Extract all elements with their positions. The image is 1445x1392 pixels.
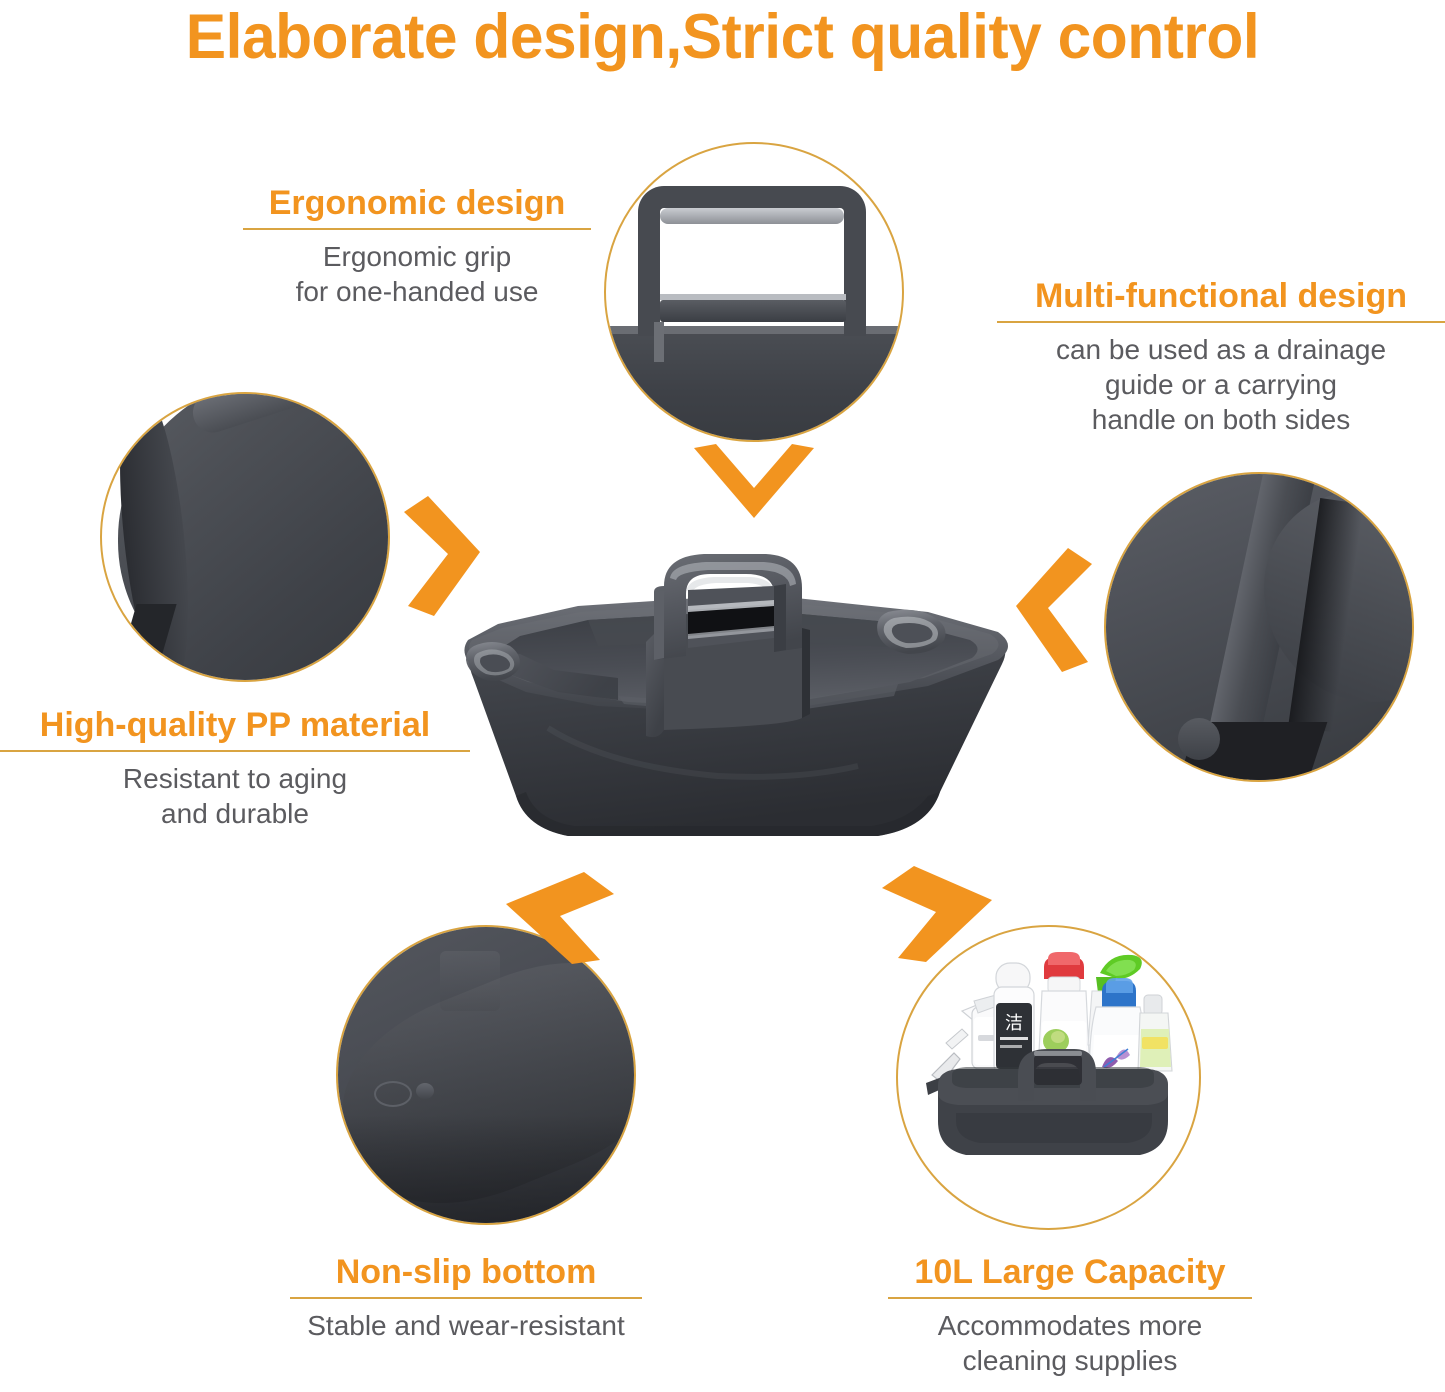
drainage-closeup-image — [1104, 472, 1414, 782]
arrow-capacity-up — [876, 858, 1004, 966]
supplies-closeup-image: 洁 — [896, 925, 1201, 1230]
callout-body-line-1: Resistant to aging — [0, 761, 470, 796]
bottom-shadow — [336, 1115, 636, 1225]
pp-material-image — [100, 392, 390, 682]
callout-body-line-2: and durable — [0, 796, 470, 831]
bottle-yellow-liquid — [1138, 995, 1172, 1071]
callout-rule — [888, 1297, 1252, 1299]
handle-closeup-image — [604, 142, 904, 442]
detail-circle-pp-material — [100, 392, 390, 682]
bottom-foot-ring — [374, 1081, 412, 1107]
callout-heading: Ergonomic design — [243, 183, 591, 223]
callout-heading: Non-slip bottom — [290, 1252, 642, 1292]
callout-multi-functional-design: Multi-functional design can be used as a… — [997, 276, 1445, 437]
callout-non-slip-bottom: Non-slip bottom Stable and wear-resistan… — [290, 1252, 642, 1343]
drain-rounded-corner — [1178, 718, 1220, 760]
bottom-grip-nub — [416, 1083, 434, 1099]
page-title: Elaborate design,Strict quality control — [29, 2, 1416, 72]
grip-bar — [660, 300, 846, 322]
detail-circle-cleaning-supplies: 洁 — [896, 925, 1201, 1230]
callout-heading: 10L Large Capacity — [888, 1252, 1252, 1292]
grip-handle-highlight — [660, 208, 844, 224]
bottom-closeup-image — [336, 925, 636, 1225]
callout-body-line-2: cleaning supplies — [888, 1343, 1252, 1378]
svg-text:洁: 洁 — [1005, 1013, 1023, 1034]
arrow-non-slip-up — [488, 864, 622, 968]
callout-large-capacity: 10L Large Capacity Accommodates more cle… — [888, 1252, 1252, 1378]
detail-circle-non-slip-bottom — [336, 925, 636, 1225]
callout-body-line-3: handle on both sides — [997, 402, 1445, 437]
callout-body-line-1: Accommodates more — [888, 1308, 1252, 1343]
detail-circle-handle-closeup — [604, 142, 904, 442]
caddy-illustration — [458, 528, 1024, 873]
caddy-rim-shape — [604, 332, 904, 442]
callout-body-line-2: for one-handed use — [243, 274, 591, 309]
callout-rule — [243, 228, 591, 230]
callout-rule — [290, 1297, 642, 1299]
callout-rule — [0, 750, 470, 752]
detail-circle-drainage-guide — [1104, 472, 1414, 782]
arrow-handle-down — [690, 442, 818, 520]
callout-rule — [997, 321, 1445, 323]
callout-body-line-2: guide or a carrying — [997, 367, 1445, 402]
callout-body-line-1: Stable and wear-resistant — [290, 1308, 642, 1343]
callout-pp-material: High-quality PP material Resistant to ag… — [0, 705, 470, 831]
callout-body-line-1: Ergonomic grip — [243, 239, 591, 274]
callout-heading: Multi-functional design — [997, 276, 1445, 316]
callout-ergonomic-design: Ergonomic design Ergonomic grip for one-… — [243, 183, 591, 309]
callout-body-line-1: can be used as a drainage — [997, 332, 1445, 367]
supplies-illustration: 洁 — [896, 925, 1201, 1230]
divider-wall-edge — [654, 322, 664, 362]
callout-heading: High-quality PP material — [0, 705, 470, 745]
product-image-caddy — [458, 528, 1024, 873]
